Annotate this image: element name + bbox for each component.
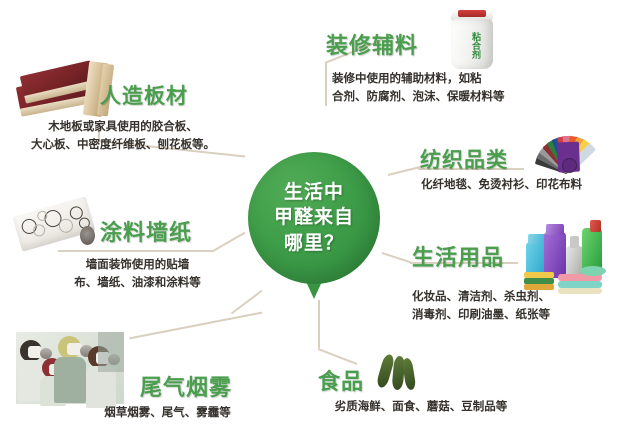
center-line-1: 生活中 (284, 180, 344, 205)
connector-paint-wallpaper (212, 232, 246, 252)
section-food: 食品 (318, 364, 364, 396)
section-description-textiles: 化纤地毯、免烫衬衫、印花布料 (421, 176, 621, 194)
cleaning-bottles-icon (520, 220, 620, 292)
section-heading-food: 食品 (318, 364, 364, 396)
section-desc-artificial-board: 木地板或家具使用的胶合板、 大心板、中密度纤维板、刨花板等。 (6, 118, 240, 154)
section-heading-exhaust-smoke: 尾气烟雾 (140, 370, 232, 402)
color-swatch-fan-icon (528, 128, 620, 176)
gas-mask-people-icon (16, 332, 124, 404)
section-description-exhaust-smoke: 烟草烟雾、尾气、雾霾等 (60, 404, 275, 422)
section-description-artificial-board: 木地板或家具使用的胶合板、 大心板、中密度纤维板、刨花板等。 (6, 118, 240, 154)
adhesive-bucket-label: 粘合剂 (465, 25, 479, 65)
center-line-3: 哪里？ (284, 231, 344, 256)
adhesive-bucket-icon: 粘合剂 (445, 6, 501, 70)
section-heading-decoration-materials: 装修辅料 (326, 28, 418, 60)
center-bubble-text: 生活中 甲醛来自 哪里？ (248, 152, 380, 284)
section-paint-wallpaper: 涂料墙纸 (100, 215, 192, 247)
wallpaper-roll-icon (14, 196, 100, 258)
section-description-paint-wallpaper: 墙面装饰使用的贴墙 布、墙纸、油漆和涂料等 (50, 256, 225, 292)
infographic-canvas: 生活中 甲醛来自 哪里？ 人造板材 木地板或家具使用的胶合板、 大心板、中密度纤… (0, 0, 626, 429)
section-description-household-products: 化妆品、清洁剂、杀虫剂、 消毒剂、印刷油墨、纸张等 (412, 288, 617, 324)
section-textiles: 纺织品类 (420, 144, 508, 174)
connector-food (318, 348, 358, 365)
center-bubble: 生活中 甲醛来自 哪里？ (248, 152, 380, 284)
connector-decoration-stub (325, 62, 327, 106)
section-desc-household-products: 化妆品、清洁剂、杀虫剂、 消毒剂、印刷油墨、纸张等 (412, 288, 617, 324)
connector-household (382, 252, 413, 263)
section-decoration-materials: 装修辅料 (326, 28, 418, 60)
section-desc-exhaust-smoke: 烟草烟雾、尾气、雾霾等 (60, 404, 275, 422)
section-heading-household-products: 生活用品 (412, 240, 504, 272)
section-heading-textiles: 纺织品类 (420, 144, 508, 174)
connector-exhaust-2 (129, 312, 262, 339)
section-desc-food: 劣质海鲜、面食、蘑菇、豆制品等 (302, 398, 540, 416)
section-artificial-board: 人造板材 (100, 80, 188, 110)
section-desc-textiles: 化纤地毯、免烫衬衫、印花布料 (421, 176, 621, 194)
section-description-food: 劣质海鲜、面食、蘑菇、豆制品等 (302, 398, 540, 416)
connector-textiles (388, 166, 421, 176)
section-description-decoration-materials: 装修中使用的辅助材料，如粘 合剂、防腐剂、泡沫、保暖材料等 (332, 70, 547, 106)
connector-exhaust (231, 290, 262, 314)
section-desc-paint-wallpaper: 墙面装饰使用的贴墙 布、墙纸、油漆和涂料等 (50, 256, 225, 292)
section-desc-decoration-materials: 装修中使用的辅助材料，如粘 合剂、防腐剂、泡沫、保暖材料等 (332, 70, 547, 106)
section-heading-artificial-board: 人造板材 (100, 80, 188, 110)
section-heading-paint-wallpaper: 涂料墙纸 (100, 215, 192, 247)
connector-food-stub (318, 300, 320, 348)
center-line-2: 甲醛来自 (274, 205, 354, 230)
cucumbers-icon (376, 352, 426, 396)
section-exhaust-smoke: 尾气烟雾 (140, 370, 232, 402)
section-household-products: 生活用品 (412, 240, 504, 272)
